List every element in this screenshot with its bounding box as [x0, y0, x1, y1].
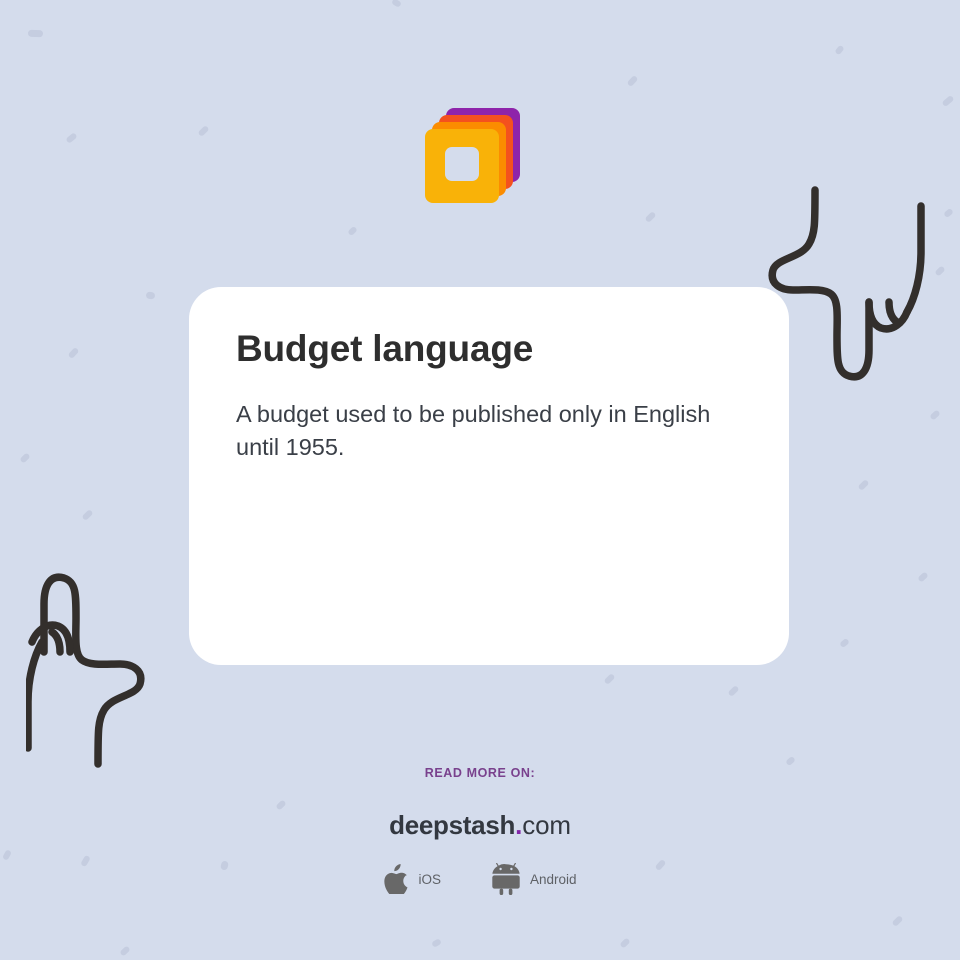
confetti-speck	[619, 937, 630, 948]
confetti-speck	[839, 638, 850, 648]
footer: READ MORE ON: deepstash.com iOS	[0, 766, 960, 895]
confetti-speck	[785, 756, 796, 766]
confetti-speck	[929, 409, 940, 420]
store-label-ios: iOS	[418, 872, 441, 887]
apple-icon	[383, 864, 409, 894]
confetti-speck	[119, 945, 130, 956]
confetti-speck	[603, 673, 615, 685]
read-more-label: READ MORE ON:	[0, 766, 960, 780]
deepstash-logo	[424, 100, 536, 204]
confetti-speck	[644, 211, 656, 223]
confetti-speck	[891, 915, 903, 927]
confetti-speck	[68, 347, 80, 359]
confetti-speck	[941, 95, 954, 107]
card-body-text: A budget used to be published only in En…	[236, 398, 742, 465]
confetti-speck	[146, 291, 156, 299]
idea-card-canvas: Budget language A budget used to be publ…	[0, 0, 960, 960]
store-badge-android[interactable]: Android	[491, 863, 577, 895]
logo-layer-amber	[425, 129, 499, 203]
confetti-speck	[197, 125, 209, 137]
confetti-speck	[627, 75, 639, 87]
confetti-speck	[391, 0, 402, 8]
brand-tld: com	[522, 810, 571, 840]
confetti-speck	[19, 452, 30, 463]
brand-name: deepstash	[389, 810, 515, 840]
confetti-speck	[857, 479, 869, 491]
card-title: Budget language	[236, 327, 742, 371]
brand-wordmark[interactable]: deepstash.com	[0, 810, 960, 841]
store-label-android: Android	[530, 872, 577, 887]
confetti-speck	[28, 30, 43, 38]
pointing-hand-icon	[26, 564, 204, 778]
confetti-speck	[727, 685, 739, 697]
idea-card: Budget language A budget used to be publ…	[189, 287, 789, 665]
confetti-speck	[917, 571, 928, 582]
store-badges: iOS Android	[0, 863, 960, 895]
confetti-speck	[834, 45, 844, 56]
confetti-speck	[81, 509, 93, 521]
confetti-speck	[347, 226, 358, 237]
confetti-speck	[65, 132, 77, 144]
android-icon	[491, 863, 521, 895]
store-badge-ios[interactable]: iOS	[383, 864, 441, 894]
confetti-speck	[431, 938, 442, 948]
